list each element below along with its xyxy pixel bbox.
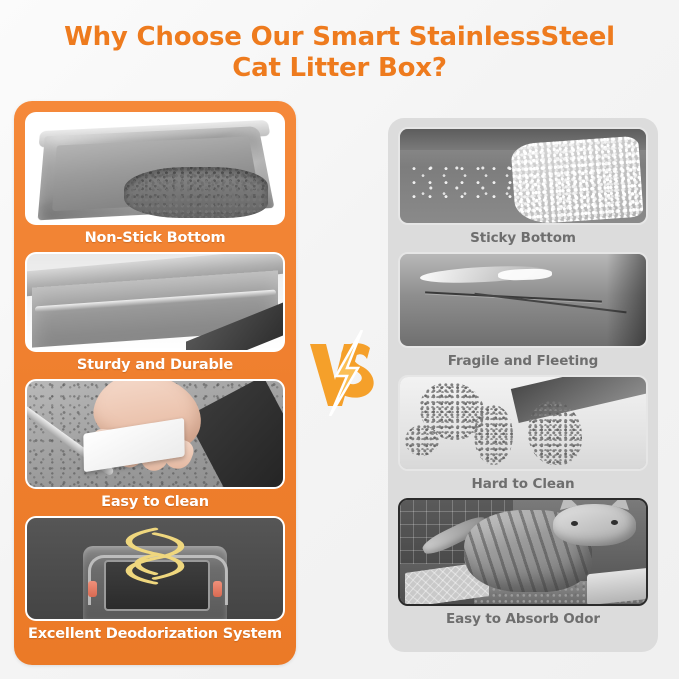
bad-feature-item: Fragile and Fleeting [398, 252, 648, 375]
good-feature-item: Non-Stick Bottom [25, 112, 285, 252]
bad-feature-caption: Easy to Absorb Odor [398, 606, 648, 633]
good-product-panel: Non-Stick Bottom Sturdy and Durable [14, 101, 296, 665]
cat-head-illustration [553, 504, 637, 546]
empty-steel-tray-photo [25, 252, 285, 352]
page-title: Why Choose Our Smart StainlessSteel Cat … [0, 22, 679, 84]
dirty-scattered-litter-photo [398, 375, 648, 471]
good-feature-caption: Easy to Clean [25, 489, 285, 516]
good-feature-caption: Excellent Deodorization System [25, 621, 285, 648]
bad-feature-item: Easy to Absorb Odor [398, 498, 648, 633]
good-feature-caption: Sturdy and Durable [25, 352, 285, 379]
stuck-litter-clump-photo [398, 127, 648, 225]
good-feature-caption: Non-Stick Bottom [25, 225, 285, 252]
bad-feature-caption: Sticky Bottom [398, 225, 648, 252]
cat-in-litter-box-photo [398, 498, 648, 606]
bad-feature-item: Sticky Bottom [398, 127, 648, 252]
bad-feature-item: Hard to Clean [398, 375, 648, 498]
bad-feature-caption: Fragile and Fleeting [398, 348, 648, 375]
deodorizer-unit-photo [25, 516, 285, 621]
odor-swirl-icon [111, 522, 198, 587]
title-line-1: Why Choose Our Smart StainlessSteel [64, 22, 615, 52]
competitor-product-panel: Sticky Bottom Fragile and Fleeting [388, 118, 658, 652]
good-feature-item: Excellent Deodorization System [25, 516, 285, 648]
bad-feature-caption: Hard to Clean [398, 471, 648, 498]
good-feature-item: Sturdy and Durable [25, 252, 285, 379]
vs-badge-icon [306, 330, 382, 416]
steel-tray-with-litter-photo [25, 112, 285, 225]
cracked-plastic-box-photo [398, 252, 648, 348]
title-line-2: Cat Litter Box? [0, 53, 679, 84]
infographic-page: Why Choose Our Smart StainlessSteel Cat … [0, 0, 679, 679]
good-feature-item: Easy to Clean [25, 379, 285, 516]
hand-wiping-tray-photo [25, 379, 285, 489]
